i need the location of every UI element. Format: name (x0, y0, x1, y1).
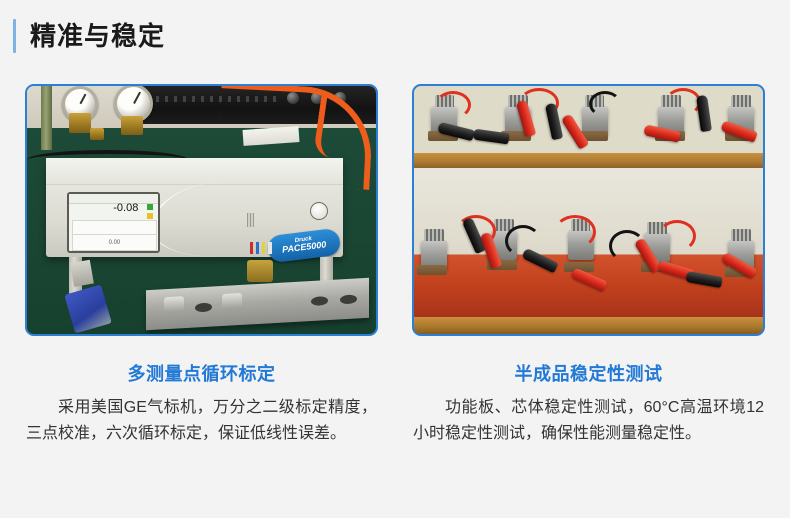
page-title: 精准与稳定 (30, 23, 165, 49)
display-row: 0.00 (72, 234, 158, 251)
display-warning-icon (147, 213, 153, 219)
display-row (72, 220, 158, 236)
card-stability: 半成品稳定性测试 功能板、芯体稳定性测试，60°C高温环境12小时稳定性测试，确… (412, 84, 765, 447)
display-status-icon (147, 204, 153, 210)
display-secondary-value: 0.00 (73, 240, 157, 246)
test-wire-red (554, 215, 596, 249)
calibration-photo: -0.08 0.00 Druck PACE5000 (25, 84, 378, 336)
alligator-clip-black (696, 95, 712, 132)
sensor-base (417, 265, 447, 275)
test-wire-black (589, 91, 621, 117)
brass-valve (90, 128, 104, 140)
pace5000-calibrator: -0.08 0.00 Druck PACE5000 (46, 158, 343, 257)
fixture-fitting (164, 296, 184, 313)
caption-body-calibration: 采用美国GE气标机，万分之二级标定精度，三点校准，六次循环标定，保证低线性误差。 (25, 395, 378, 447)
test-wire-red (658, 220, 696, 252)
test-wire-red (435, 91, 471, 119)
card-calibration: -0.08 0.00 Druck PACE5000 (25, 84, 378, 447)
stability-test-photo (412, 84, 765, 336)
fixture-port (340, 295, 357, 305)
fixture-port (311, 296, 328, 306)
fixture-port (195, 303, 212, 313)
blue-hand-tool (64, 285, 111, 334)
section-title: 精准与稳定 (13, 17, 165, 55)
display-value: -0.08 (72, 202, 138, 214)
caption-heading-calibration: 多测量点循环标定 (25, 360, 378, 386)
title-accent-bar (13, 19, 16, 53)
device-top-panel (46, 158, 343, 185)
fixture-block (146, 278, 369, 330)
test-wire-red (665, 88, 701, 116)
alligator-clip-black (545, 102, 563, 140)
fixture-fitting (222, 293, 242, 310)
sensor-lead-wires (250, 242, 272, 254)
shelf-top (414, 153, 763, 168)
device-display: -0.08 0.00 (67, 192, 160, 254)
green-post (41, 86, 52, 150)
card-columns: -0.08 0.00 Druck PACE5000 (0, 84, 790, 447)
caption-heading-stability: 半成品稳定性测试 (412, 360, 765, 386)
brass-valve (121, 116, 143, 135)
brass-valve (69, 113, 91, 133)
shelf-bottom (414, 317, 763, 334)
caption-body-stability: 功能板、芯体稳定性测试，60°C高温环境12小时稳定性测试，确保性能测量稳定性。 (412, 395, 765, 447)
sensor-core (247, 260, 273, 282)
device-vent (247, 213, 254, 227)
ge-logo (310, 202, 328, 220)
